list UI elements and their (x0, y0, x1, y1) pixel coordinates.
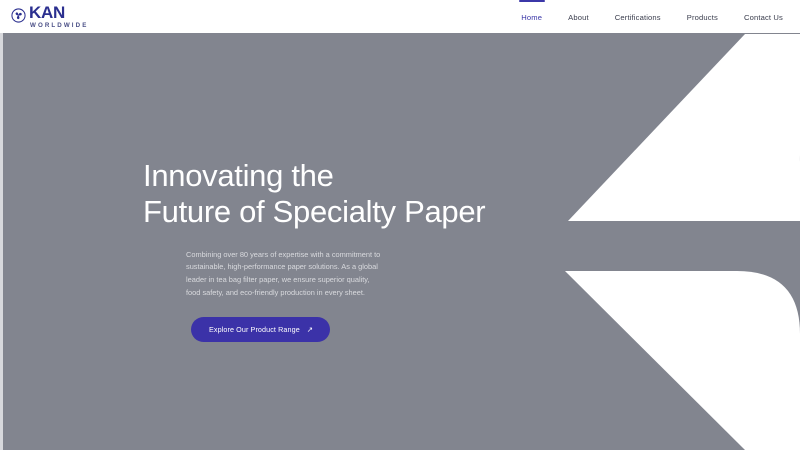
nav-item-home-label: Home (521, 13, 542, 22)
nav-item-contact-us-label: Contact Us (744, 13, 783, 22)
nav-item-home[interactable]: Home (521, 11, 542, 22)
kan-circular-swirl-logomark (11, 8, 26, 23)
nav-item-certifications[interactable]: Certifications (615, 11, 661, 22)
left-edge-strip (0, 33, 3, 450)
primary-navigation: Home About Certifications Products Conta… (521, 0, 783, 33)
logo-tagline: WORLDWIDE (30, 23, 88, 29)
cta-label: Explore Our Product Range (209, 325, 300, 334)
logo-wordmark: KAN (29, 4, 88, 21)
site-logo[interactable]: KAN WORLDWIDE (11, 4, 88, 29)
logo-text-block: KAN WORLDWIDE (29, 4, 88, 29)
white-angled-chevron-top (568, 34, 800, 221)
hero-section: Innovating the Future of Specialty Paper… (143, 158, 543, 342)
hero-subcopy: Combining over 80 years of expertise wit… (186, 249, 401, 300)
nav-item-contact-us[interactable]: Contact Us (744, 11, 783, 22)
explore-product-range-button[interactable]: Explore Our Product Range ↗ (191, 317, 330, 342)
nav-active-indicator (519, 0, 545, 2)
hero-headline: Innovating the Future of Specialty Paper (143, 158, 543, 231)
nav-item-certifications-label: Certifications (615, 13, 661, 22)
white-angled-chevron-bottom (565, 271, 800, 450)
nav-item-products[interactable]: Products (687, 11, 718, 22)
arrow-up-right-icon: ↗ (307, 326, 313, 334)
nav-item-about[interactable]: About (568, 11, 589, 22)
page-root: KAN WORLDWIDE Home About Certifications … (0, 0, 800, 450)
nav-item-about-label: About (568, 13, 589, 22)
site-header: KAN WORLDWIDE Home About Certifications … (0, 0, 800, 33)
nav-item-products-label: Products (687, 13, 718, 22)
